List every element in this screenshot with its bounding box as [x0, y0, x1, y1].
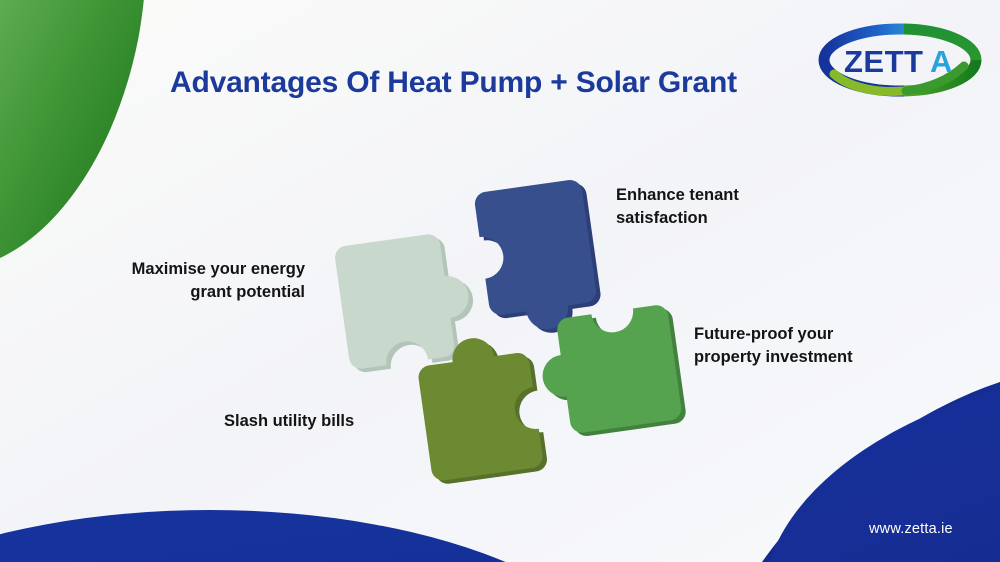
site-url[interactable]: www.zetta.ie	[869, 521, 953, 537]
callout-line-2: grant potential	[70, 281, 305, 304]
callout-line-1: Enhance tenant	[616, 184, 846, 207]
callout-future-proof-investment: Future-proof your property investment	[694, 323, 944, 369]
callout-slash-utility-bills: Slash utility bills	[224, 410, 454, 433]
logo-wordmark: ZETT	[844, 44, 924, 79]
bottom-left-blue-wave	[0, 510, 640, 562]
slide-canvas: Advantages Of Heat Pump + Solar Grant	[0, 0, 1000, 562]
callout-line-1: Maximise your energy	[70, 258, 305, 281]
top-left-green-blob	[0, 0, 146, 258]
logo-wordmark-accent: A	[930, 44, 952, 79]
callout-enhance-tenant-satisfaction: Enhance tenant satisfaction	[616, 184, 846, 230]
callout-line-2: property investment	[694, 346, 944, 369]
callout-line-1: Future-proof your	[694, 323, 944, 346]
zetta-logo[interactable]: ZETT A	[818, 22, 982, 98]
callout-line-2: satisfaction	[616, 207, 846, 230]
callout-line-1: Slash utility bills	[224, 410, 454, 433]
page-title: Advantages Of Heat Pump + Solar Grant	[170, 66, 737, 100]
callout-maximise-grant-potential: Maximise your energy grant potential	[70, 258, 305, 304]
